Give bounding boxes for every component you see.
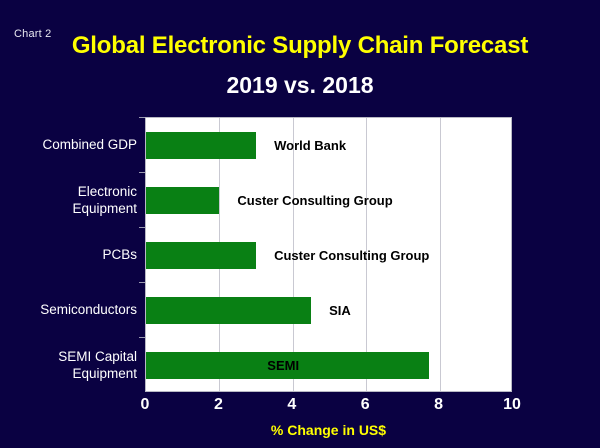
category-label-line: SEMI Capital (0, 348, 137, 365)
bar (146, 132, 256, 159)
category-label-line: PCBs (0, 246, 137, 263)
x-axis-tick-label: 10 (492, 396, 532, 414)
category-label-line: Equipment (0, 200, 137, 217)
category-label-line: Combined GDP (0, 136, 137, 153)
gridline (440, 118, 441, 391)
page-title: Global Electronic Supply Chain Forecast (0, 32, 600, 60)
category-label-line: Semiconductors (0, 301, 137, 318)
category-axis-labels: Combined GDPElectronicEquipmentPCBsSemic… (0, 117, 137, 392)
x-axis-title: % Change in US$ (145, 422, 512, 438)
bar (146, 187, 219, 214)
bar-source-label: Custer Consulting Group (274, 248, 429, 263)
category-label: Combined GDP (0, 136, 137, 153)
x-axis-tick-label: 6 (345, 396, 385, 414)
x-axis-tick-label: 2 (198, 396, 238, 414)
bar (146, 242, 256, 269)
category-label-line: Electronic (0, 183, 137, 200)
x-axis-tick-label: 8 (419, 396, 459, 414)
bar-source-label: World Bank (274, 138, 346, 153)
category-label-line: Equipment (0, 365, 137, 382)
bar (146, 297, 311, 324)
page-subtitle: 2019 vs. 2018 (0, 72, 600, 99)
chart-plot-area: World BankCuster Consulting GroupCuster … (145, 117, 512, 392)
category-label: PCBs (0, 246, 137, 263)
slide-canvas: Chart 2 Global Electronic Supply Chain F… (0, 0, 600, 448)
bar-source-label: Custer Consulting Group (237, 193, 392, 208)
category-label: Semiconductors (0, 301, 137, 318)
bar-source-label: SEMI (267, 358, 299, 373)
x-axis-tick-label: 4 (272, 396, 312, 414)
bar-source-label: SIA (329, 303, 351, 318)
category-label: ElectronicEquipment (0, 183, 137, 217)
category-label: SEMI CapitalEquipment (0, 348, 137, 382)
x-axis-tick-label: 0 (125, 396, 165, 414)
